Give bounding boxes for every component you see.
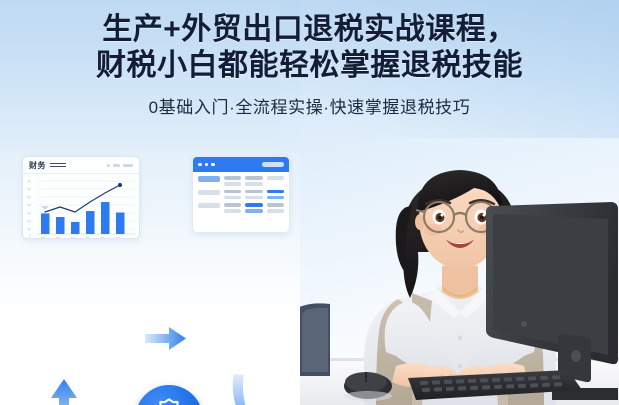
arrow-right-icon [143, 323, 189, 355]
arrow-down-icon [228, 372, 268, 405]
arrow-up-icon [48, 376, 80, 405]
table-cell [267, 190, 284, 200]
title-rule-icon [50, 163, 66, 168]
svg-text:40: 40 [27, 203, 31, 207]
svg-text:0: 0 [29, 234, 31, 238]
svg-text:■■: ■■ [41, 236, 45, 240]
headline-line-1: 生产+外贸出口退税实战课程， [0, 12, 619, 48]
finance-chart-title: 财务 [29, 160, 46, 171]
table-cell [224, 190, 241, 200]
promo-poster: 生产+外贸出口退税实战课程， 财税小白都能轻松掌握退税技能 0基础入门·全流程实… [0, 0, 619, 405]
window-dot-icon [211, 163, 215, 167]
svg-text:■■: ■■ [101, 236, 105, 240]
svg-text:70: 70 [27, 179, 31, 183]
gear-diamond-icon [156, 397, 182, 405]
headline-block: 生产+外贸出口退税实战课程， 财税小白都能轻松掌握退税技能 0基础入门·全流程实… [0, 12, 619, 118]
svg-text:10: 10 [27, 227, 31, 231]
table-cell [267, 203, 284, 213]
headline-subtitle: 0基础入门·全流程实操·快速掌握退税技巧 [0, 93, 619, 118]
svg-text:20: 20 [27, 219, 31, 223]
finance-bar-chart: 70 60 50 40 30 20 10 0 [23, 174, 140, 239]
table-card-titlebar [193, 157, 289, 172]
table-cell [245, 176, 262, 186]
svg-text:■■: ■■ [116, 236, 120, 240]
finance-chart-card: 财务 [22, 156, 140, 239]
svg-text:60: 60 [27, 187, 31, 191]
table-cell [245, 190, 262, 200]
table-cell [224, 176, 241, 186]
svg-text:■■: ■■ [71, 236, 75, 240]
finance-chart-header: 财务 [23, 157, 139, 174]
table-cell [267, 176, 284, 180]
table-cell [245, 203, 262, 213]
declaration-table-card [192, 156, 290, 233]
svg-text:■■: ■■ [56, 236, 60, 240]
export-declaration-badge[interactable]: 出口单 [135, 385, 203, 405]
table-cell [198, 203, 220, 208]
process-infographic: 财务 [0, 140, 310, 405]
headline-line-2: 财税小白都能轻松掌握退税技能 [0, 48, 619, 84]
table-cell [198, 190, 220, 195]
titlebar-pill-icon [262, 162, 284, 167]
pill-icon-small [113, 164, 120, 167]
table-row [198, 203, 284, 213]
table-row [198, 176, 284, 186]
table-cell [198, 176, 220, 182]
window-dot-icon [198, 163, 202, 167]
instructor-photo [300, 138, 619, 405]
svg-text:■■: ■■ [86, 236, 90, 240]
dot-icon [107, 164, 110, 167]
window-dot-icon [205, 163, 209, 167]
table-cell [224, 203, 241, 213]
table-card-grid [193, 172, 289, 221]
svg-text:30: 30 [27, 211, 31, 215]
svg-text:50: 50 [27, 195, 31, 199]
instructor-illustration [300, 138, 619, 405]
pill-icon-large [123, 164, 133, 167]
table-row [198, 190, 284, 200]
chart-header-controls [107, 164, 133, 167]
